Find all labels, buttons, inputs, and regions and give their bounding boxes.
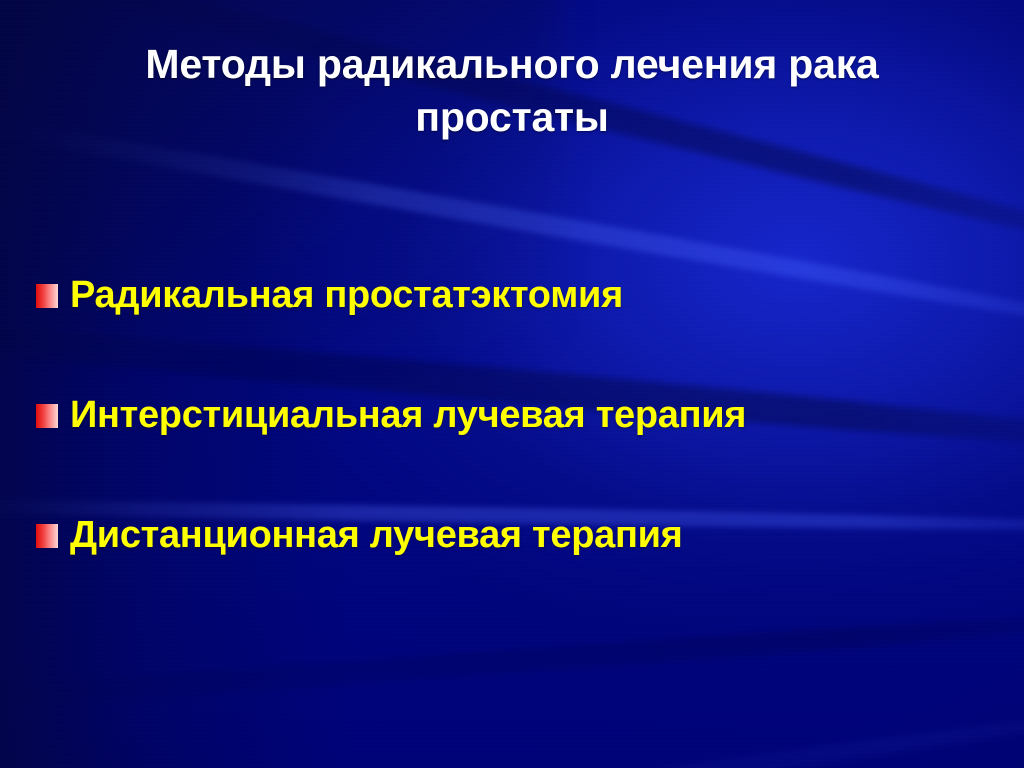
slide-title: Методы радикального лечения рака простат… <box>96 38 928 145</box>
bullet-square-icon <box>36 404 58 428</box>
list-item-label: Интерстициальная лучевая терапия <box>70 395 746 437</box>
list-item-label: Радикальная простатэктомия <box>70 275 623 317</box>
bullet-square-icon <box>36 284 58 308</box>
list-item[interactable]: Дистанционная лучевая терапия <box>0 476 1024 596</box>
bullet-list: Радикальная простатэктомия Интерстициаль… <box>0 236 1024 596</box>
bullet-square-icon <box>36 524 58 548</box>
list-item-label: Дистанционная лучевая терапия <box>70 515 683 557</box>
list-item[interactable]: Радикальная простатэктомия <box>0 236 1024 356</box>
list-item[interactable]: Интерстициальная лучевая терапия <box>0 356 1024 476</box>
presentation-slide: Методы радикального лечения рака простат… <box>0 0 1024 768</box>
